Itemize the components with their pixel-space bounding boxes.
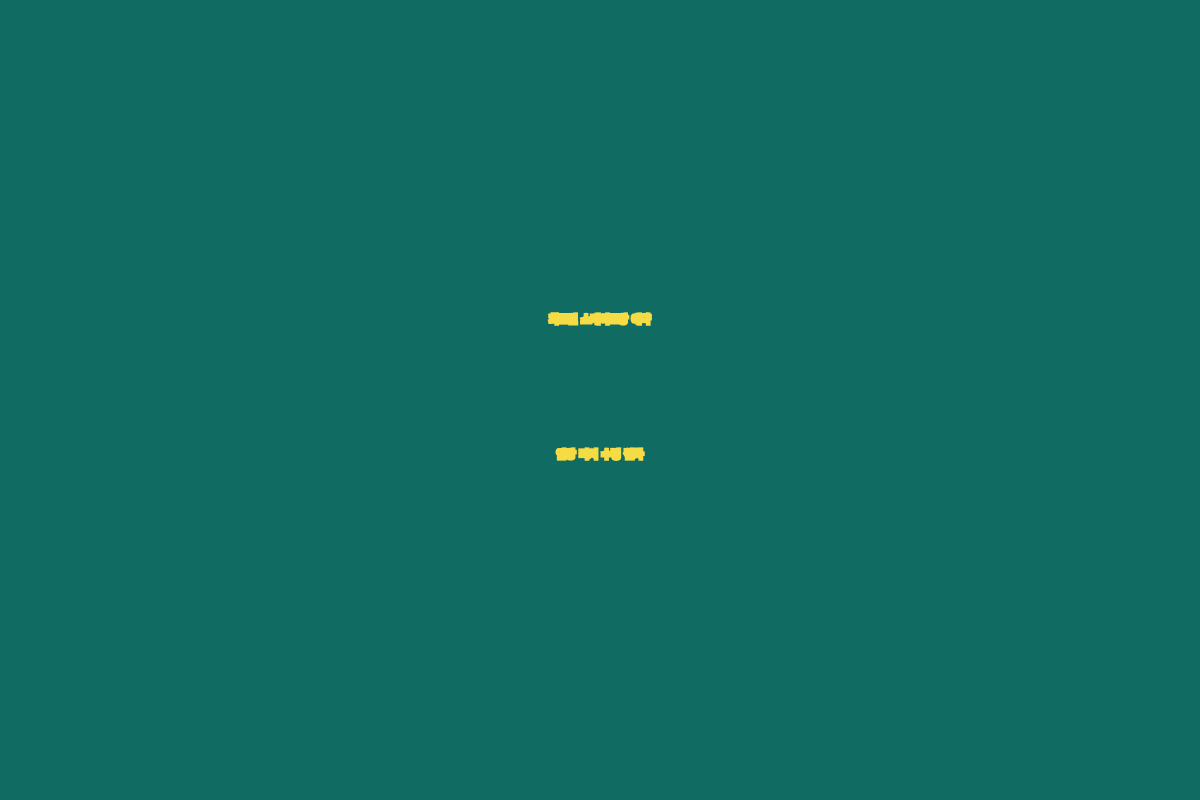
title-line-secondary: 입장 띠지 수령 절차: [0, 388, 1200, 523]
title-line-primary: 화도진 스케이트장 예약: [0, 253, 1200, 388]
banner-background: 화도진 스케이트장 예약 입장 띠지 수령 절차: [0, 0, 1200, 800]
page-title: 화도진 스케이트장 예약 입장 띠지 수령 절차: [0, 253, 1200, 523]
